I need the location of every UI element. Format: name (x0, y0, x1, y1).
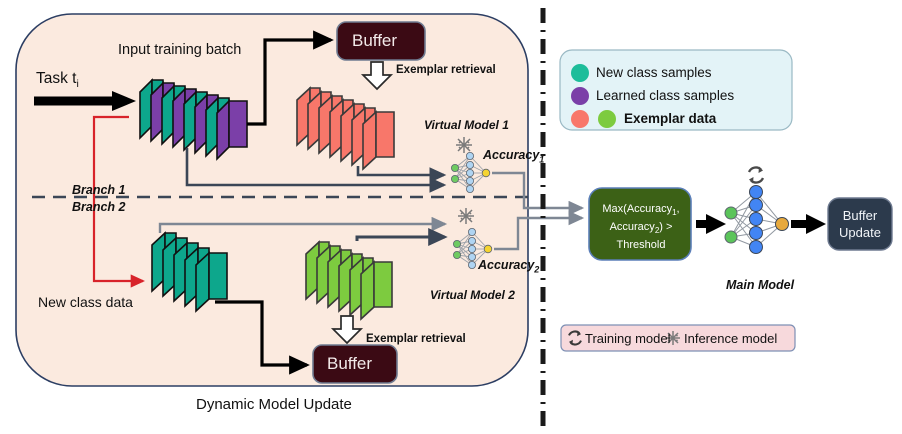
accuracy-1-text: Accuracy (483, 148, 539, 162)
legend-item-label-new-class: New class samples (596, 65, 712, 80)
task-label: Task ti (36, 70, 79, 90)
task-label-text: Task t (36, 70, 76, 87)
accuracy-2-sub: 2 (534, 265, 539, 275)
legend-inference-model-label: Inference model (684, 331, 777, 346)
legend-item-label-exemplar: Exemplar data (624, 111, 716, 126)
accuracy-2-text: Accuracy (478, 258, 534, 272)
input-training-batch-label: Input training batch (118, 42, 241, 58)
branch-1-label: Branch 1 (72, 183, 126, 197)
decision-line1-tail: , (677, 203, 680, 215)
buffer-update-line1: Buffer (843, 208, 877, 223)
task-label-sub: i (76, 78, 78, 90)
diagram-root: Task ti Input training batch Buffer Exem… (0, 0, 902, 434)
main-model-network (725, 186, 789, 254)
decision-line2-tail: ) > (659, 221, 672, 233)
new-class-data-label: New class data (38, 294, 133, 310)
legend-dot-exemplar-green (598, 110, 616, 128)
snowflake-icon-virtual-model-1 (456, 137, 472, 153)
decision-to-main-model-arrow (696, 214, 726, 234)
accuracy-1-label: Accuracy1 (483, 148, 544, 165)
buffer-update-line2: Update (839, 225, 881, 240)
legend-dot-new-class (571, 64, 589, 82)
legend-dot-exemplar-salmon (571, 110, 589, 128)
legend-dot-learned-class (571, 87, 589, 105)
decision-box-text: Max(Accuracy1, Accuracy2) > Threshold (595, 202, 687, 253)
refresh-cycle-icon-main-model (749, 167, 763, 184)
accuracy-1-sub: 1 (539, 155, 544, 165)
accuracy-2-label: Accuracy2 (478, 258, 539, 275)
decision-line1: Max(Accuracy (602, 203, 672, 215)
buffer-update-text: Buffer Update (830, 207, 890, 241)
decision-line3: Threshold (617, 239, 666, 251)
buffer-top-label: Buffer (352, 31, 397, 51)
exemplar-retrieval-top-label: Exemplar retrieval (396, 64, 496, 76)
main-model-to-buffer-update-arrow (791, 214, 826, 234)
panel-caption: Dynamic Model Update (196, 396, 352, 413)
decision-line2: Accuracy (610, 221, 655, 233)
exemplar-retrieval-bottom-label: Exemplar retrieval (366, 333, 466, 345)
buffer-bottom-label: Buffer (327, 354, 372, 374)
legend-item-label-learned-class: Learned class samples (596, 88, 734, 103)
legend-training-model-label: Training model (585, 331, 671, 346)
snowflake-icon-virtual-model-2 (458, 208, 474, 224)
virtual-model-1-label: Virtual Model 1 (424, 118, 509, 132)
virtual-model-2-label: Virtual Model 2 (430, 288, 515, 302)
branch-2-label: Branch 2 (72, 200, 126, 214)
main-model-label: Main Model (726, 278, 794, 292)
